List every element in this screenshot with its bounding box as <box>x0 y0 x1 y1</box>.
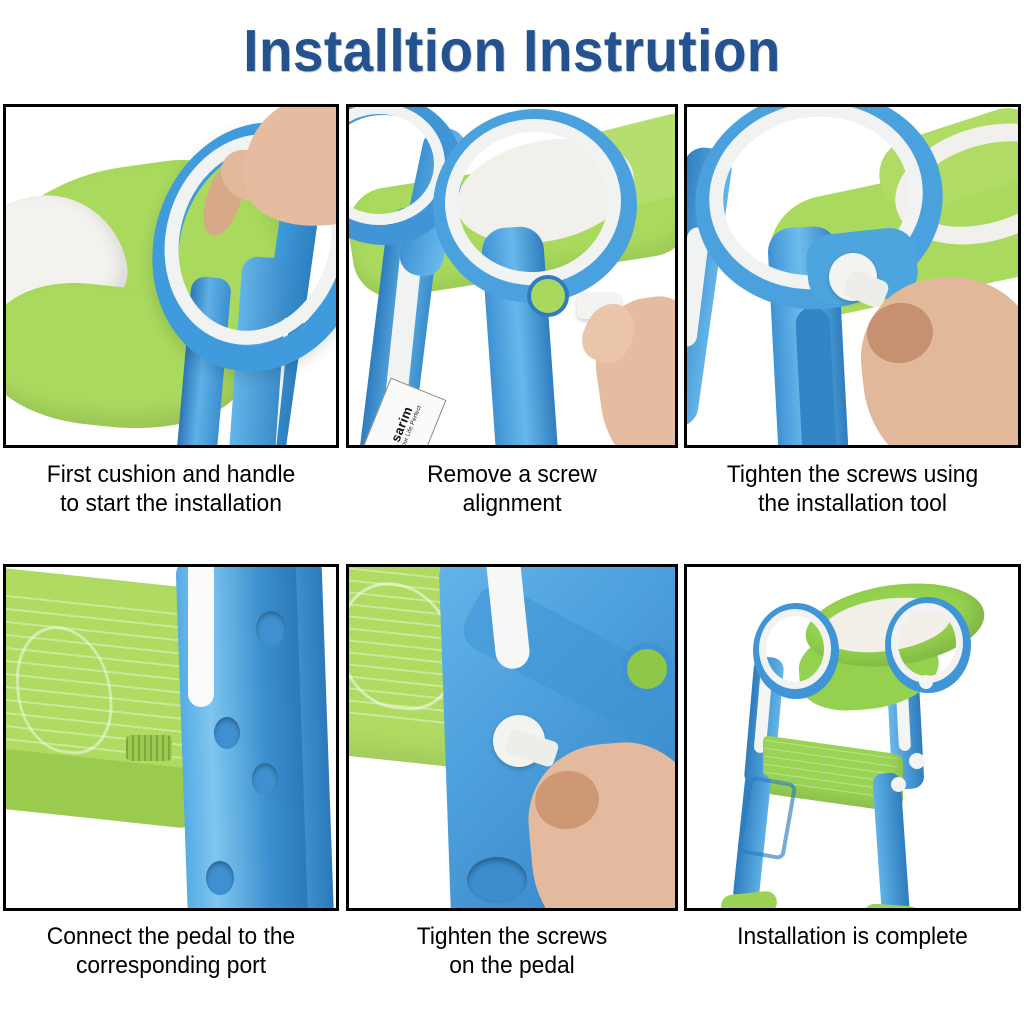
step-panel-3: Tighten the screws using the installatio… <box>684 104 1021 448</box>
step-caption-4-line2: corresponding port <box>11 951 330 980</box>
mounting-hole <box>214 717 240 749</box>
mounting-hole <box>256 611 286 647</box>
step-panel-5: Tighten the screws on the pedal <box>346 564 678 911</box>
step-photo-6 <box>687 567 1018 908</box>
handle-ring-left-white <box>759 609 831 689</box>
adjustment-dot <box>891 777 906 792</box>
step-caption-3: Tighten the screws using the installatio… <box>692 460 1012 518</box>
assembled-product <box>687 567 1018 908</box>
step-caption-6: Installation is complete <box>692 922 1012 951</box>
step-caption-4-line1: Connect the pedal to the <box>11 922 330 951</box>
step-photo-5 <box>349 567 675 908</box>
step-panel-2: sarim Your Life Perfect Remove a screw a… <box>346 104 678 448</box>
adjustment-dot <box>909 753 925 769</box>
step-panel-1: First cushion and handle to start the in… <box>3 104 339 448</box>
step-caption-3-line2: the installation tool <box>692 489 1012 518</box>
step-caption-5-line1: Tighten the screws <box>354 922 669 951</box>
step-panel-4: Connect the pedal to the corresponding p… <box>3 564 339 911</box>
step-caption-2-line1: Remove a screw <box>354 460 669 489</box>
ladder-leg-right <box>872 772 910 908</box>
step-photo-3 <box>687 107 1018 445</box>
step-caption-6-line1: Installation is complete <box>692 922 1012 951</box>
green-button-knob <box>527 275 569 317</box>
step-photo-frame-3 <box>684 104 1021 448</box>
step-caption-2: Remove a screw alignment <box>354 460 669 518</box>
step-caption-3-line1: Tighten the screws using <box>692 460 1012 489</box>
step-photo-2: sarim Your Life Perfect <box>349 107 675 445</box>
step-caption-5: Tighten the screws on the pedal <box>354 922 669 980</box>
step-caption-1-line1: First cushion and handle <box>11 460 330 489</box>
step-caption-4: Connect the pedal to the corresponding p… <box>11 922 330 980</box>
instruction-grid: First cushion and handle to start the in… <box>0 0 1024 1024</box>
step-photo-frame-5 <box>346 564 678 911</box>
step-photo-4 <box>6 567 336 908</box>
green-port-hole <box>621 643 673 695</box>
step-photo-frame-4 <box>3 564 339 911</box>
mounting-hole <box>206 861 234 895</box>
foot-pad-left <box>720 890 778 908</box>
step-caption-2-line2: alignment <box>354 489 669 518</box>
poster-root: Installtion Instrution <box>0 0 1024 1024</box>
step-photo-1 <box>6 107 336 445</box>
step-photo-frame-1 <box>3 104 339 448</box>
step-photo-frame-2: sarim Your Life Perfect <box>346 104 678 448</box>
mounting-hole <box>467 857 527 903</box>
step-caption-1: First cushion and handle to start the in… <box>11 460 330 518</box>
ladder-leg-white-slot <box>188 567 214 707</box>
step-panel-6: Installation is complete <box>684 564 1021 911</box>
handle-ring-right-white <box>891 603 963 683</box>
step-caption-1-line2: to start the installation <box>11 489 330 518</box>
step-caption-5-line2: on the pedal <box>354 951 669 980</box>
step-photo-frame-6 <box>684 564 1021 911</box>
mounting-hole <box>252 763 278 795</box>
adjustment-dot <box>919 675 933 689</box>
pedal-threaded-post <box>126 735 172 761</box>
